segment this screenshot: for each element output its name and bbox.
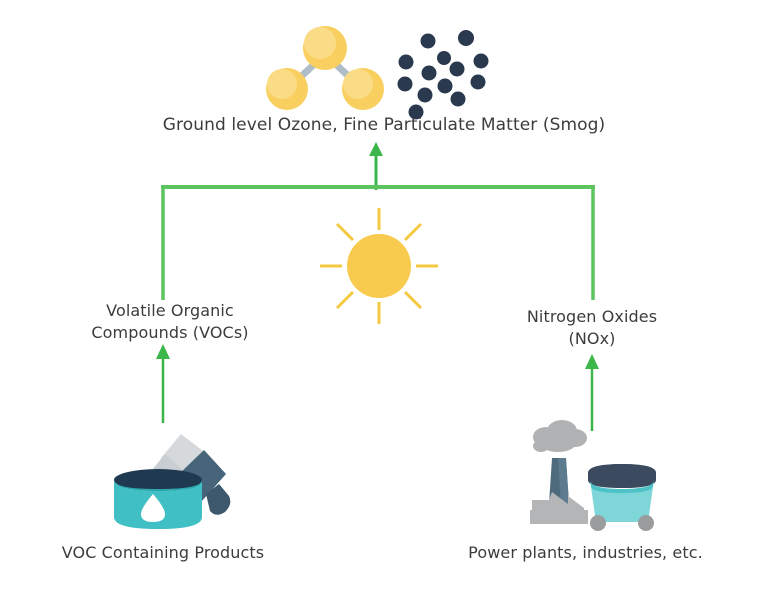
node-label-smog: Ground level Ozone, Fine Particulate Mat… — [84, 114, 684, 137]
particulate-dots — [398, 30, 489, 120]
container-wheel-left — [590, 515, 606, 531]
node-label-nox-source: Power plants, industries, etc. — [448, 542, 723, 564]
sun-icon — [318, 206, 440, 326]
node-label-nox: Nitrogen Oxides (NOx) — [492, 306, 692, 349]
container-wheel-right — [638, 515, 654, 531]
node-label-voc-source: VOC Containing Products — [28, 542, 298, 564]
particulate-matter-icon — [392, 24, 497, 116]
sun-disc — [347, 234, 411, 298]
ozone-molecule-icon — [265, 22, 390, 117]
arrow-voc-source-to-voc — [153, 343, 173, 423]
diagram-canvas: Ground level Ozone, Fine Particulate Mat… — [0, 0, 768, 612]
node-label-voc: Volatile Organic Compounds (VOCs) — [60, 300, 280, 343]
ozone-atoms — [266, 26, 384, 110]
factory-icon — [522, 418, 662, 533]
smoke-cloud — [533, 420, 587, 452]
arrow-junction-to-smog — [366, 142, 386, 190]
paint-can-brush-icon — [103, 432, 228, 532]
